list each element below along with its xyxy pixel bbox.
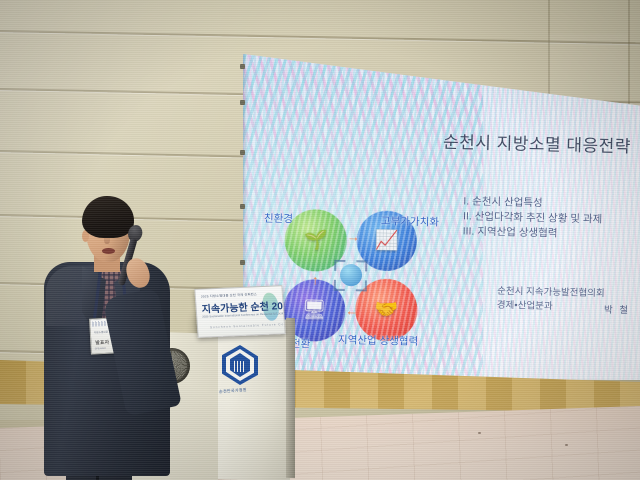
badge-line-3: SPEAKER [95,347,106,351]
slide-title: 순천시 지방소멸 대응전략 [443,128,632,158]
slide-agenda-list: I. 순천시 산업특성 II. 산업다각화 추진 상황 및 과제 III. 지역… [463,194,603,242]
photo-scene: 순천시 지방소멸 대응전략 I. 순천시 산업특성 II. 산업다각화 추진 상… [0,0,640,480]
slide-author: 박 철 [604,302,630,317]
arrow-left-bottom: ← [345,304,358,317]
chip-glyph: 🖥 [302,301,327,321]
arrow-right-top: → [347,230,360,243]
podium-right-edge [286,318,295,478]
arrow-up-left: ↑ [312,273,319,286]
diagram-hub [328,256,373,297]
slide-footer-dept: 경제•산업분과 [497,299,605,315]
banner-bottom-line: Suncheon Sustainable Future Conference [210,321,286,329]
suncheon-bay-garden-emblem [222,344,258,385]
slide-footer: 순천시 지속가능발전협의회 경제•산업분과 [497,285,605,315]
diagram-label-high-value: 고부가가치화 [381,213,439,229]
presenter-person: 지방소멸대응 컨퍼런스 발표자 SPEAKER [30,196,170,480]
presenter-hair [82,196,134,238]
agenda-item-3: III. 지역산업 상생협력 [463,224,603,242]
diagram-label-cooperation: 지역산업 상생협력 [338,332,418,349]
chart-glyph: 📈 [375,231,399,250]
banner-event-line: 2025 지방소멸대응 순천 국제 컨퍼런스 [201,291,257,298]
handshake-glyph: 🤝 [374,300,398,319]
badge-name-text: 발표자 [95,339,109,347]
podium-banner-sign: 2025 지방소멸대응 순천 국제 컨퍼런스 지속가능한 순천 2040 202… [194,285,285,338]
leaf-glyph: 🌱 [304,231,328,250]
diagram-label-eco: 친환경 [264,211,293,227]
